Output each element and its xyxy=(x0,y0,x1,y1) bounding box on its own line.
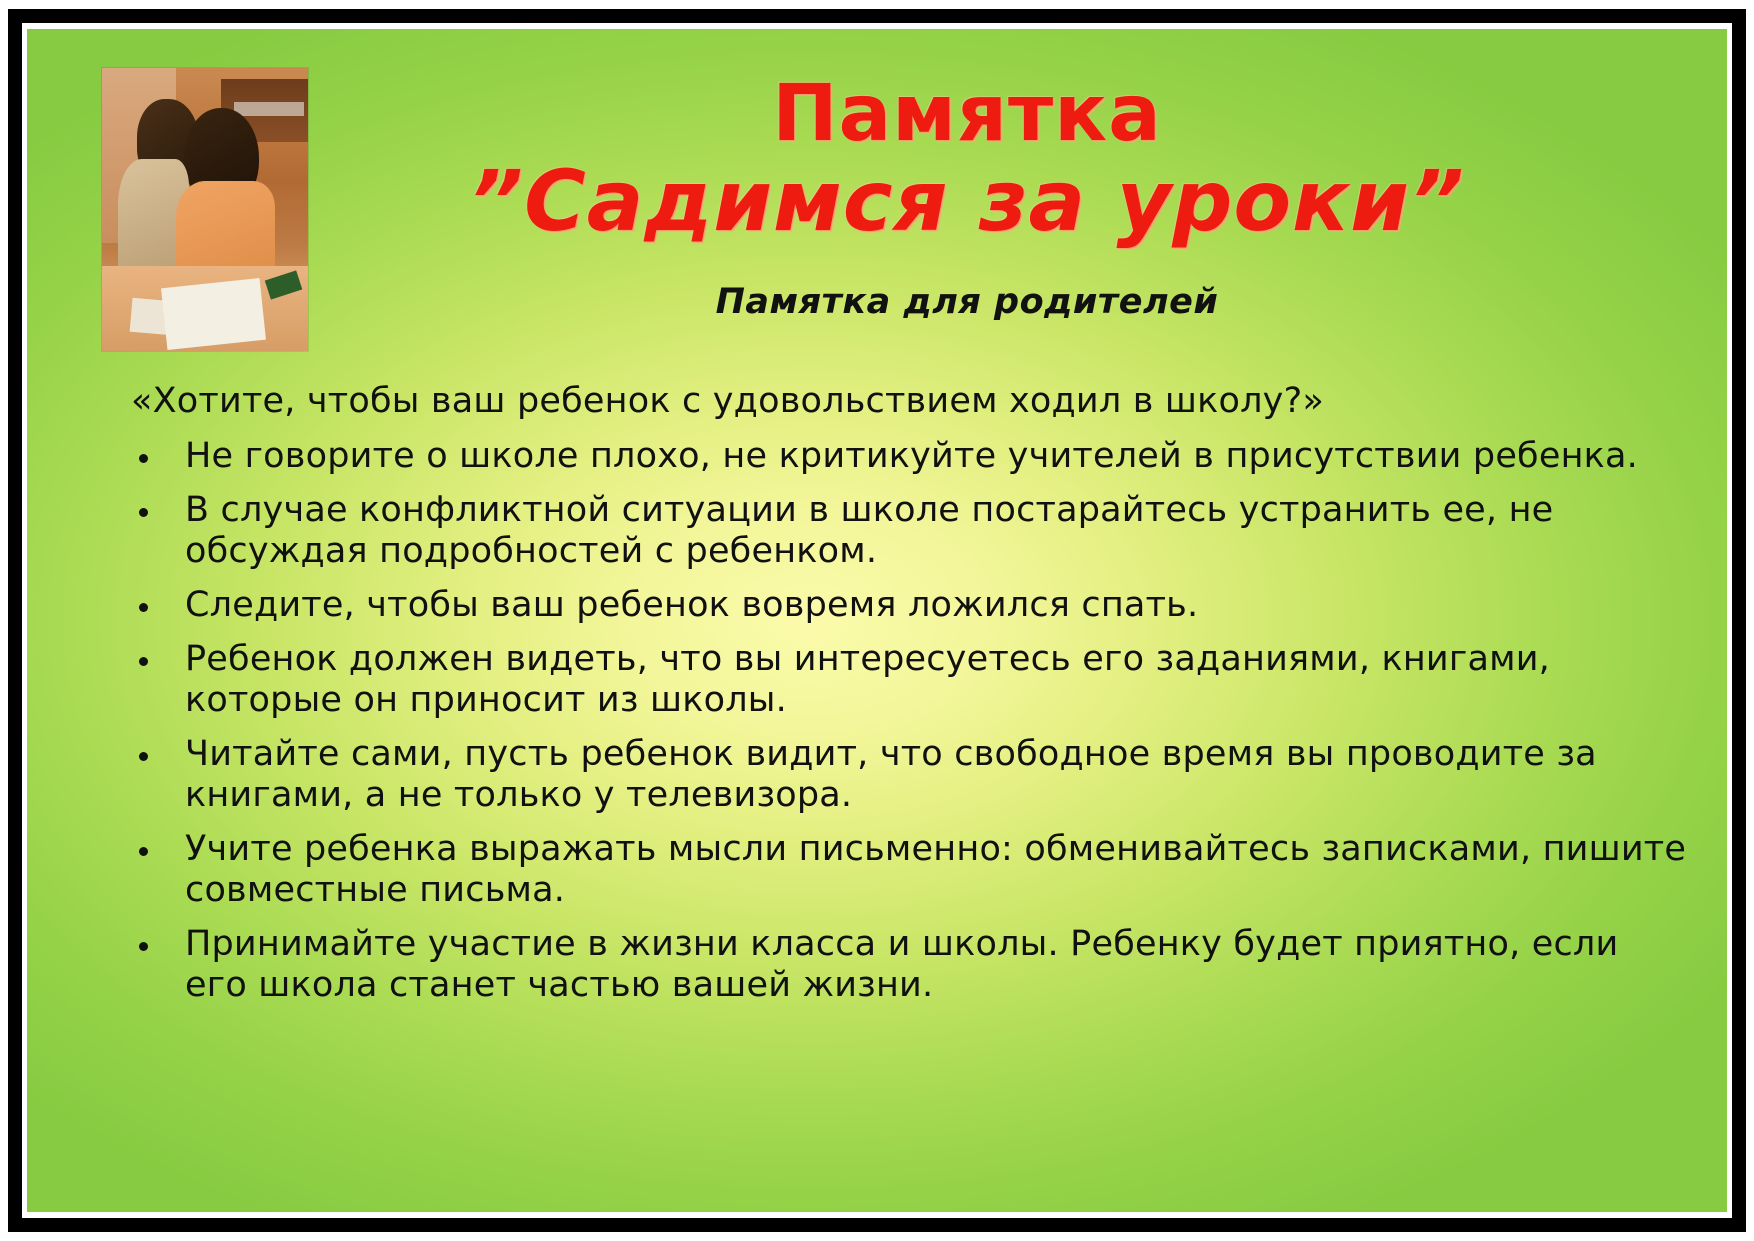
list-item: Принимайте участие в жизни класса и школ… xyxy=(109,924,1687,1006)
list-item: Учите ребенка выражать мысли письменно: … xyxy=(109,829,1687,911)
slide-header: Памятка ”Садимся за уроки” Памятка для р… xyxy=(27,29,1727,381)
list-item-text: Читайте сами, пусть ребенок видит, что с… xyxy=(185,734,1597,815)
list-item: Не говорите о школе плохо, не критикуйте… xyxy=(109,436,1687,477)
photo-paper-primary xyxy=(161,278,266,350)
bullet-dot-icon xyxy=(139,454,148,463)
audience-label: Памятка для родителей xyxy=(257,282,1677,322)
list-item-text: Не говорите о школе плохо, не критикуйте… xyxy=(185,436,1638,476)
bullet-dot-icon xyxy=(139,603,148,612)
list-item: Следите, чтобы ваш ребенок вовремя ложил… xyxy=(109,585,1687,626)
lead-question: «Хотите, чтобы ваш ребенок с удовольстви… xyxy=(109,381,1687,422)
presentation-slide: Памятка ”Садимся за уроки” Памятка для р… xyxy=(27,29,1727,1212)
list-item-text: Следите, чтобы ваш ребенок вовремя ложил… xyxy=(185,585,1198,625)
bullet-dot-icon xyxy=(139,508,148,517)
list-item: Ребенок должен видеть, что вы интересует… xyxy=(109,639,1687,721)
page-subtitle: ”Садимся за уроки” xyxy=(257,159,1677,245)
list-item-text: Учите ребенка выражать мысли письменно: … xyxy=(185,829,1686,910)
bullet-dot-icon xyxy=(139,847,148,856)
slide-body: «Хотите, чтобы ваш ребенок с удовольстви… xyxy=(27,381,1727,1019)
bullet-dot-icon xyxy=(139,942,148,951)
list-item: Читайте сами, пусть ребенок видит, что с… xyxy=(109,734,1687,816)
list-item: В случае конфликтной ситуации в школе по… xyxy=(109,490,1687,572)
advice-list: Не говорите о школе плохо, не критикуйте… xyxy=(109,436,1687,1005)
title-block: Памятка ”Садимся за уроки” Памятка для р… xyxy=(257,77,1677,322)
list-item-text: Принимайте участие в жизни класса и школ… xyxy=(185,924,1618,1005)
bullet-dot-icon xyxy=(139,657,148,666)
page-canvas: Памятка ”Садимся за уроки” Памятка для р… xyxy=(0,0,1754,1241)
list-item-text: Ребенок должен видеть, что вы интересует… xyxy=(185,639,1550,720)
bullet-dot-icon xyxy=(139,752,148,761)
page-title: Памятка xyxy=(257,77,1677,153)
list-item-text: В случае конфликтной ситуации в школе по… xyxy=(185,490,1553,571)
